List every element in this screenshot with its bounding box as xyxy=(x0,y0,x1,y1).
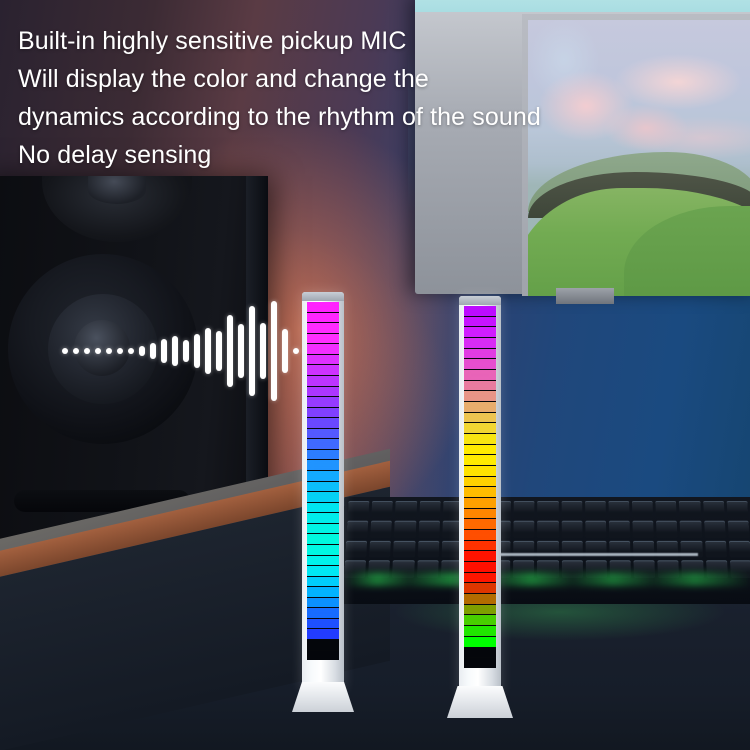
waveform-bar-4 xyxy=(95,348,101,354)
rgb-pickup-light-left-segment-22 xyxy=(307,524,339,535)
rgb-pickup-light-right-segment-11 xyxy=(464,413,496,424)
keyboard-key xyxy=(514,501,535,518)
keyboard-key xyxy=(585,521,606,538)
keyboard-key xyxy=(418,521,439,538)
rgb-pickup-light-left-segment-6 xyxy=(307,355,339,366)
speaker-tweeter-dome xyxy=(88,176,146,204)
rgb-pickup-light-left-segment-10 xyxy=(307,397,339,408)
monitor-stand xyxy=(556,288,614,304)
rgb-pickup-light-left-segment-17 xyxy=(307,471,339,482)
keyboard-key xyxy=(633,521,654,538)
waveform-bar-14 xyxy=(205,328,211,374)
rgb-pickup-light-right-segment-25 xyxy=(464,562,496,573)
rgb-pickup-light-right-segment-8 xyxy=(464,381,496,392)
keyboard-key xyxy=(393,540,415,557)
rgb-pickup-light-right-base xyxy=(447,686,513,718)
waveform-bar-6 xyxy=(117,348,123,354)
keyboard-key xyxy=(347,521,369,538)
rgb-pickup-light-right-segment-1 xyxy=(464,306,496,317)
keyboard-key xyxy=(348,501,370,518)
keyboard-key xyxy=(538,501,559,518)
headline-line-3: dynamics according to the rhythm of the … xyxy=(18,98,742,136)
rgb-pickup-light-left-segment-1 xyxy=(307,302,339,313)
waveform-bar-3 xyxy=(84,348,90,354)
keyboard-row-2 xyxy=(347,521,750,538)
rgb-pickup-light-left-led-strip xyxy=(307,302,339,660)
headline-line-1: Built-in highly sensitive pickup MIC xyxy=(18,22,742,60)
rgb-pickup-light-left-segment-11 xyxy=(307,408,339,419)
rgb-pickup-light-left-segment-3 xyxy=(307,323,339,334)
rgb-pickup-light-left-segment-31 xyxy=(307,619,339,630)
waveform-bar-5 xyxy=(106,348,112,354)
rgb-pickup-light-left-segment-2 xyxy=(307,313,339,324)
rgb-pickup-light-right-segment-19 xyxy=(464,498,496,509)
rgb-pickup-light-right-segment-13 xyxy=(464,434,496,445)
rgb-pickup-light-right-segment-6 xyxy=(464,359,496,370)
waveform-bar-17 xyxy=(238,324,244,378)
sound-wave-icon xyxy=(62,296,252,406)
waveform-bar-1 xyxy=(62,348,68,354)
keyboard-key xyxy=(370,521,392,538)
rgb-pickup-light-right-segment-18 xyxy=(464,487,496,498)
rgb-pickup-light-right-segment-22 xyxy=(464,530,496,541)
rgb-pickup-light-right-segment-29 xyxy=(464,605,496,616)
rgb-pickup-light-left-segment-34 xyxy=(307,651,339,660)
rgb-pickup-light-left-segment-20 xyxy=(307,503,339,514)
keyboard-key xyxy=(608,501,629,518)
keyboard-key xyxy=(369,540,391,557)
waveform-bar-19 xyxy=(260,323,266,379)
waveform-bar-18 xyxy=(249,306,255,396)
rgb-pickup-light-left-segment-33 xyxy=(307,640,339,651)
waveform-bar-16 xyxy=(227,315,233,387)
keyboard-key xyxy=(729,540,750,557)
rgb-pickup-light-right-top-cap xyxy=(459,296,501,305)
rgb-pickup-light-right-segment-33 xyxy=(464,648,496,659)
rgb-pickup-light-right-segment-9 xyxy=(464,391,496,402)
keyboard-key xyxy=(679,501,700,518)
waveform-bar-8 xyxy=(139,346,145,356)
rgb-pickup-light-right-segment-23 xyxy=(464,541,496,552)
keyboard-key xyxy=(395,501,416,518)
keyboard-key xyxy=(728,521,750,538)
rgb-pickup-light-right-segment-4 xyxy=(464,338,496,349)
keyboard-key xyxy=(514,521,535,538)
rgb-pickup-light-right-segment-10 xyxy=(464,402,496,413)
waveform-bar-13 xyxy=(194,334,200,368)
headline-line-2: Will display the color and change the xyxy=(18,60,742,98)
rgb-pickup-light-right-segment-3 xyxy=(464,327,496,338)
rgb-pickup-light-left-segment-32 xyxy=(307,629,339,640)
keyboard-key xyxy=(538,521,559,538)
rgb-pickup-light-left-segment-30 xyxy=(307,608,339,619)
rgb-pickup-light-left-top-cap xyxy=(302,292,344,301)
keyboard-key xyxy=(345,540,367,557)
rgb-pickup-light-left-segment-7 xyxy=(307,365,339,376)
keyboard-key xyxy=(394,521,416,538)
waveform-bar-11 xyxy=(172,336,178,366)
rgb-pickup-light-left-segment-21 xyxy=(307,513,339,524)
rgb-pickup-light-left-segment-5 xyxy=(307,344,339,355)
waveform-bar-7 xyxy=(128,348,134,354)
monitor-top-strip xyxy=(415,0,750,12)
headline-text: Built-in highly sensitive pickup MICWill… xyxy=(18,22,742,174)
rgb-pickup-light-left-segment-23 xyxy=(307,534,339,545)
keyboard-key xyxy=(371,501,393,518)
rgb-pickup-light-right-segment-14 xyxy=(464,445,496,456)
rgb-pickup-light-right-segment-17 xyxy=(464,477,496,488)
waveform-bar-20 xyxy=(271,301,277,401)
rgb-pickup-light-right-segment-26 xyxy=(464,573,496,584)
keyboard-key xyxy=(703,501,725,518)
rgb-pickup-light-left-segment-16 xyxy=(307,460,339,471)
rgb-pickup-light-left-segment-29 xyxy=(307,598,339,609)
rgb-pickup-light-left-segment-15 xyxy=(307,450,339,461)
rgb-pickup-light-right-segment-12 xyxy=(464,423,496,434)
rgb-pickup-light-right-segment-5 xyxy=(464,349,496,360)
keyboard-keys xyxy=(344,501,750,578)
rgb-pickup-light-left-segment-13 xyxy=(307,429,339,440)
rgb-pickup-light-right-segment-28 xyxy=(464,594,496,605)
rgb-pickup-light-left-segment-28 xyxy=(307,587,339,598)
keyboard-key xyxy=(609,521,630,538)
rgb-pickup-light-right-segment-24 xyxy=(464,551,496,562)
keyboard-key xyxy=(727,501,749,518)
keyboard-key xyxy=(680,521,702,538)
product-banner-stage: Built-in highly sensitive pickup MICWill… xyxy=(0,0,750,750)
rgb-pickup-light-right-segment-31 xyxy=(464,626,496,637)
rgb-pickup-light-right-segment-2 xyxy=(464,317,496,328)
waveform-bar-10 xyxy=(161,339,167,363)
rgb-pickup-light-left-segment-14 xyxy=(307,439,339,450)
rgb-pickup-light-right-segment-34 xyxy=(464,658,496,668)
rgb-pickup-light-left-segment-12 xyxy=(307,418,339,429)
rgb-pickup-light-right-segment-20 xyxy=(464,509,496,520)
keyboard-key xyxy=(419,501,440,518)
rgb-pickup-light-left-segment-26 xyxy=(307,566,339,577)
waveform-bar-15 xyxy=(216,331,222,371)
keyboard-key xyxy=(417,540,439,557)
rgb-pickup-light-left-segment-4 xyxy=(307,334,339,345)
keyboard-key xyxy=(561,521,582,538)
keyboard-key xyxy=(632,501,653,518)
rgb-pickup-light-right-segment-15 xyxy=(464,455,496,466)
keyboard-key xyxy=(656,521,677,538)
rgb-pickup-light-left-segment-8 xyxy=(307,376,339,387)
rgb-pickup-light-right-segment-16 xyxy=(464,466,496,477)
rgb-pickup-light-right-segment-27 xyxy=(464,583,496,594)
headline-line-4: No delay sensing xyxy=(18,136,742,174)
rgb-pickup-light-right-segment-32 xyxy=(464,637,496,648)
rgb-pickup-light-left-base xyxy=(292,682,354,712)
rgb-pickup-light-right-led-strip xyxy=(464,306,496,668)
rgb-pickup-light-left-segment-24 xyxy=(307,545,339,556)
rgb-pickup-light-right-segment-30 xyxy=(464,615,496,626)
rgb-pickup-light-left-segment-18 xyxy=(307,482,339,493)
keyboard-key xyxy=(705,540,727,557)
keyboard-key xyxy=(585,501,606,518)
waveform-bar-12 xyxy=(183,340,189,362)
rgb-pickup-light-right-segment-21 xyxy=(464,519,496,530)
waveform-bar-2 xyxy=(73,348,79,354)
keyboard-underglow xyxy=(344,572,750,586)
waveform-bar-22 xyxy=(293,348,299,354)
rgb-pickup-light-left-segment-9 xyxy=(307,387,339,398)
rgb-pickup-light-right-segment-7 xyxy=(464,370,496,381)
keyboard-row-1 xyxy=(348,501,748,518)
waveform-bar-9 xyxy=(150,343,156,359)
rgb-pickup-light-left-segment-19 xyxy=(307,492,339,503)
keyboard-key xyxy=(656,501,677,518)
keyboard-spacebar-highlight xyxy=(468,553,698,556)
keyboard-key xyxy=(561,501,582,518)
rgb-pickup-light-left-segment-27 xyxy=(307,577,339,588)
waveform-bar-21 xyxy=(282,329,288,373)
keyboard-key xyxy=(704,521,726,538)
rgb-pickup-light-left-segment-25 xyxy=(307,556,339,567)
